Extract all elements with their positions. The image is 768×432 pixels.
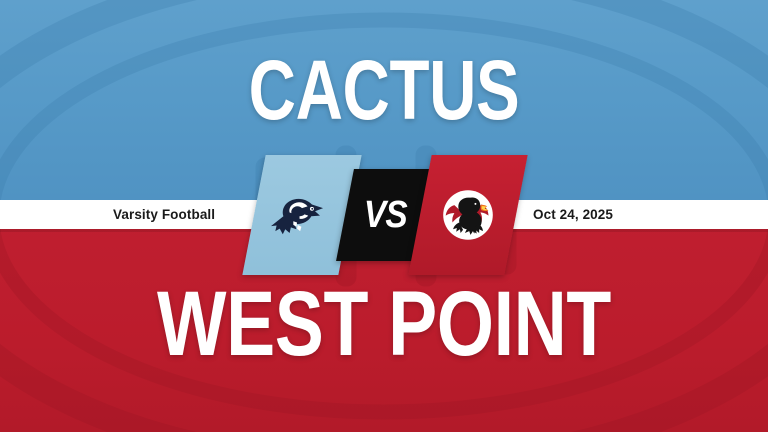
game-date: Oct 24, 2025 [533,200,613,229]
home-team-name: CACTUS [84,48,683,132]
matchup-graphic: CACTUS WEST POINT Varsity Football Oct 2… [0,0,768,432]
away-team-name: WEST POINT [77,278,691,370]
cobra-head-icon [271,184,333,246]
vs-label: VS [364,194,407,237]
sport-label: Varsity Football [113,200,215,229]
dragon-icon [437,184,499,246]
